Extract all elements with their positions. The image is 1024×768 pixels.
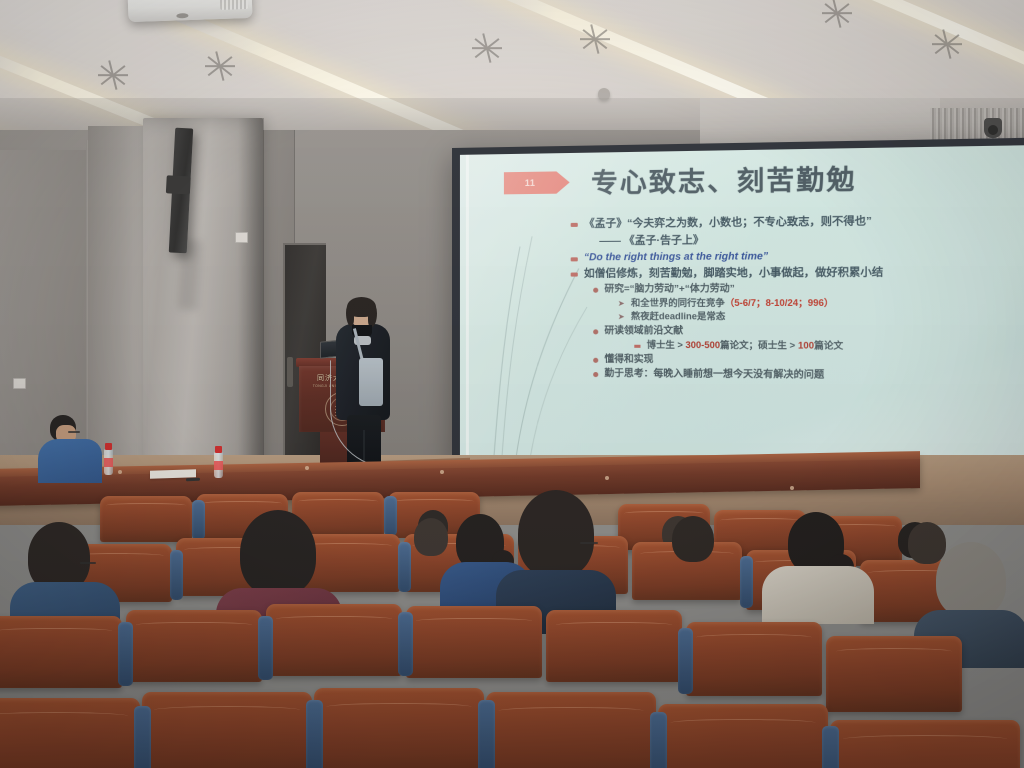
attendee-hair [518, 490, 594, 578]
auditorium-seat[interactable] [142, 692, 312, 768]
slide-bullet-level2: 勤于思考：每晚入睡前想一想今天没有解决的问题 [571, 368, 1024, 383]
bullet-square-icon [571, 273, 578, 277]
auditorium-seat[interactable] [100, 496, 192, 542]
attendee-hair [936, 542, 1006, 618]
attendee-hair [240, 510, 316, 596]
slide-bullet-level3: ➤ 和全世界的同行在竞争（5-6/7；8-10/24；996） [571, 297, 1024, 308]
auditorium-seat[interactable] [0, 698, 140, 768]
attendee-head [518, 490, 594, 578]
auditorium-seat[interactable] [406, 606, 542, 678]
front-row-attendee [38, 415, 108, 475]
slide-bullet-text: 和全世界的同行在竞争（5-6/7；8-10/24；996） [631, 297, 1024, 308]
slide-header: 11 专心致志、刻苦勤勉 [478, 158, 1024, 211]
auditorium-seat[interactable] [826, 636, 962, 712]
auditorium-seat[interactable] [486, 692, 656, 768]
screen-surface: 11 专心致志、刻苦勤勉 《孟子》“今夫弈之为数，小数也；不专心致志，则不得也”… [460, 145, 1024, 467]
star-air-vent-icon [578, 28, 612, 50]
attendee-shoulders [762, 566, 874, 624]
bullet-arrow-icon: ➤ [618, 312, 625, 322]
bullet-dot-icon [593, 287, 598, 292]
concrete-column [143, 118, 263, 480]
slide-bullet-level1: 《孟子》“今夫弈之为数，小数也；不专心致志，则不得也” [571, 213, 1024, 230]
glasses-icon [580, 542, 598, 544]
presentation-slide: 11 专心致志、刻苦勤勉 《孟子》“今夫弈之为数，小数也；不专心致志，则不得也”… [460, 145, 1024, 467]
auditorium-seat[interactable] [266, 604, 402, 676]
slide-bullet-level3: ➤ 熬夜赶deadline是常态 [571, 311, 1024, 323]
bullet-dot-icon [593, 372, 598, 377]
seat-armrest [650, 712, 667, 768]
star-air-vent-icon [203, 55, 237, 77]
auditorium-seat[interactable] [314, 688, 484, 768]
presenter-hair-side [346, 304, 354, 326]
slide-bullet-continuation: —— 《孟子·告子上》 [571, 230, 1024, 249]
slide-bullet-level1: 如僧侣修炼，刻苦勤勉，脚踏实地，小事做起，做好积累小结 [571, 266, 1024, 281]
slide-bullet-text: 如僧侣修炼，刻苦勤勉，脚踏实地，小事做起，做好积累小结 [584, 266, 1024, 281]
slide-bullet-text: 博士生 > 300-500篇论文；硕士生 > 100篇论文 [647, 340, 1024, 353]
attendee-head [672, 516, 714, 562]
slide-left-accent-band [466, 155, 469, 458]
slide-bullet-highlight: 100 [798, 340, 814, 350]
bullet-dot-icon [593, 329, 598, 334]
attendee-hair [672, 516, 714, 562]
seat-armrest [740, 556, 753, 608]
slide-bullet-highlight: 300-500 [685, 340, 720, 350]
auditorium-seat[interactable] [0, 616, 122, 688]
star-air-vent-icon [470, 37, 504, 59]
bullet-dot-icon [593, 358, 598, 363]
attendee-hair [414, 518, 448, 556]
slide-bullet-level2: 研究=“脑力劳动”+“体力劳动” [571, 282, 1024, 295]
slide-bullet-text: 勤于思考：每晚入睡前想一想今天没有解决的问题 [604, 368, 1024, 383]
attendee-head [240, 510, 316, 596]
audience-seating [0, 470, 1024, 768]
auditorium-seat[interactable] [126, 610, 262, 682]
slide-bullet-text: 熬夜赶deadline是常态 [631, 311, 1024, 323]
seat-armrest [170, 550, 183, 600]
slide-bullet-level2: 研读领域前沿文献 [571, 325, 1024, 338]
projector-vent-grille [220, 0, 249, 10]
seat-armrest [258, 616, 273, 680]
seat-armrest [678, 628, 693, 694]
slide-number: 11 [525, 178, 536, 188]
glasses-icon [80, 562, 96, 564]
slide-number-banner: 11 [504, 171, 557, 194]
star-air-vent-icon [820, 2, 854, 24]
slide-bullet-level2: 懂得和实现 [571, 353, 1024, 367]
slide-bullet-english: “Do the right things at the right time” [571, 250, 1024, 265]
wall-outlet-icon[interactable] [13, 378, 26, 389]
slide-bullet-text: “Do the right things at the right time” [584, 250, 1024, 265]
seat-armrest [822, 726, 839, 768]
bullet-arrow-icon: ➤ [618, 299, 625, 309]
glasses-icon [68, 431, 80, 433]
auditorium-seat[interactable] [658, 704, 828, 768]
seat-armrest [478, 700, 495, 768]
auditorium-seat[interactable] [546, 610, 682, 682]
seat-armrest [384, 496, 397, 536]
bullet-square-icon [571, 258, 578, 262]
seat-armrest [192, 500, 205, 540]
attendee-head [788, 512, 844, 574]
auditorium-seat[interactable] [830, 720, 1020, 768]
seat-armrest [118, 622, 133, 686]
star-air-vent-icon [96, 64, 130, 86]
attendee-head [936, 542, 1006, 618]
wall-outlet-icon[interactable] [235, 232, 248, 243]
projection-screen[interactable]: 11 专心致志、刻苦勤勉 《孟子》“今夫弈之为数，小数也；不专心致志，则不得也”… [452, 137, 1024, 477]
star-air-vent-icon [930, 33, 964, 55]
seat-armrest [398, 542, 411, 592]
slide-bullet-level4: 博士生 > 300-500篇论文；硕士生 > 100篇论文 [571, 340, 1024, 353]
slide-title: 专心致志、刻苦勤勉 [591, 159, 856, 201]
seat-armrest [398, 612, 413, 676]
slide-bullet-highlight: （5-6/7；8-10/24；996） [725, 297, 834, 307]
ceiling-light-strip [758, 0, 1024, 108]
slide-bullet-text: 《孟子》“今夫弈之为数，小数也；不专心致志，则不得也” [584, 213, 1024, 230]
slide-bullet-text: 研究=“脑力劳动”+“体力劳动” [604, 282, 1024, 295]
auditorium-seat[interactable] [686, 622, 822, 696]
bullet-square-icon [634, 345, 640, 348]
bullet-square-icon [571, 223, 578, 227]
slide-bullet-text: 研读领域前沿文献 [604, 325, 1024, 338]
lecture-hall-scene: 11 专心致志、刻苦勤勉 《孟子》“今夫弈之为数，小数也；不专心致志，则不得也”… [0, 0, 1024, 768]
projector-lens-icon [176, 13, 188, 18]
seat-armrest [306, 700, 323, 768]
seat-armrest [134, 706, 151, 768]
slide-bullet-text: 懂得和实现 [604, 354, 1024, 368]
slide-body: 《孟子》“今夫弈之为数，小数也；不专心致志，则不得也” —— 《孟子·告子上》 … [478, 213, 1024, 383]
ceiling-camera-icon [984, 118, 1002, 138]
attendee-head [414, 518, 448, 556]
